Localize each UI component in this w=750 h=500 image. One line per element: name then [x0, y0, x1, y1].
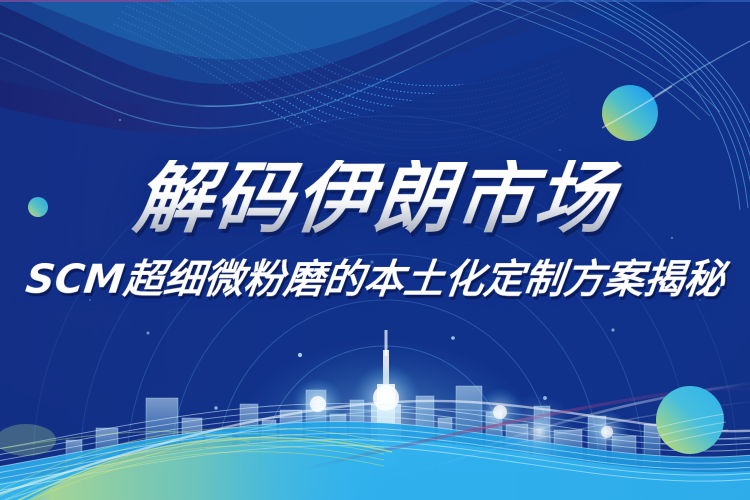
promo-banner: 解码伊朗市场 SCM超细微粉磨的本土化定制方案揭秘 — [0, 0, 750, 500]
sphere-left-small — [28, 197, 48, 217]
top-edge-magenta — [0, 0, 170, 2]
background-artwork — [0, 0, 750, 500]
